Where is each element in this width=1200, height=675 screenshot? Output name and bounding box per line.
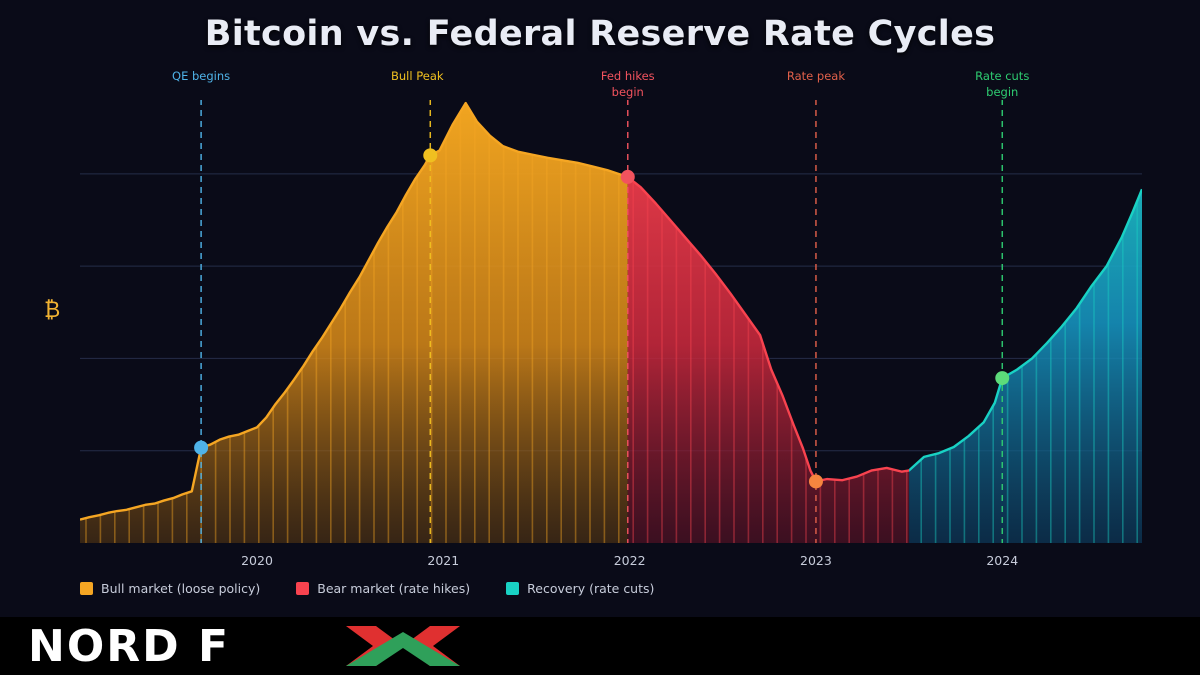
plot-area	[80, 100, 1142, 543]
x-tick-2024: 2024	[986, 553, 1018, 568]
annotation-label-rate-cuts: Rate cuts begin	[942, 68, 1062, 100]
legend-label-bear: Bear market (rate hikes)	[317, 581, 470, 596]
nordfx-logo-icon: NORD F	[28, 622, 488, 668]
legend-label-bull: Bull market (loose policy)	[101, 581, 260, 596]
page-title: Bitcoin vs. Federal Reserve Rate Cycles	[0, 14, 1200, 54]
legend-label-recovery: Recovery (rate cuts)	[527, 581, 654, 596]
nordfx-logo: NORD F	[28, 622, 488, 668]
chart-canvas: Bitcoin vs. Federal Reserve Rate Cycles …	[0, 0, 1200, 675]
x-tick-2023: 2023	[800, 553, 832, 568]
legend-swatch-recovery	[506, 582, 519, 595]
logo-text-nordf: NORD F	[28, 622, 230, 668]
annotation-label-fed-hikes: Fed hikes begin	[568, 68, 688, 100]
annotation-label-rate-peak: Rate peak	[756, 68, 876, 84]
legend: Bull market (loose policy)Bear market (r…	[80, 581, 654, 596]
annotation-label-bull-peak: Bull Peak	[357, 68, 477, 84]
area-chart-svg	[80, 100, 1142, 543]
legend-item-recovery[interactable]: Recovery (rate cuts)	[506, 581, 654, 596]
y-axis-label: ₿	[44, 300, 60, 322]
legend-item-bull[interactable]: Bull market (loose policy)	[80, 581, 260, 596]
annotation-label-qe-begins: QE begins	[141, 68, 261, 84]
x-tick-2020: 2020	[241, 553, 273, 568]
x-tick-2022: 2022	[614, 553, 646, 568]
legend-swatch-bear	[296, 582, 309, 595]
area-fills	[80, 103, 1142, 543]
x-tick-2021: 2021	[427, 553, 459, 568]
legend-swatch-bull	[80, 582, 93, 595]
legend-item-bear[interactable]: Bear market (rate hikes)	[296, 581, 470, 596]
